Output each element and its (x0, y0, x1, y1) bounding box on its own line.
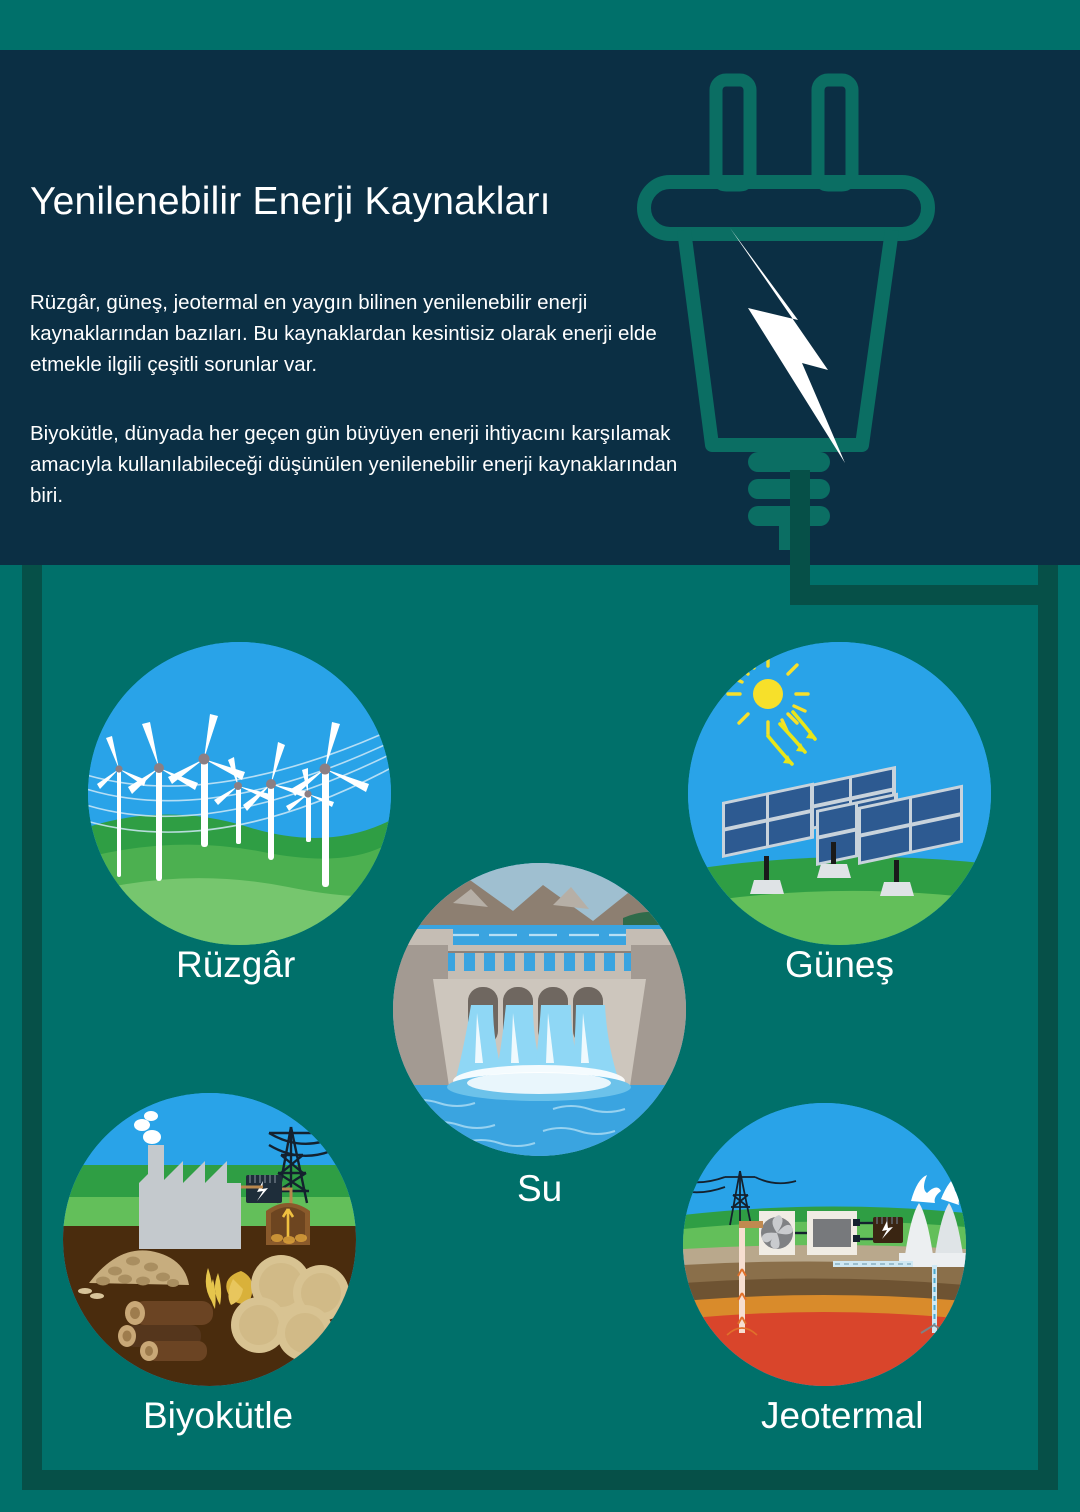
source-label-solar: Güneş (785, 944, 894, 986)
source-label-hydro: Su (517, 1168, 562, 1210)
source-label-geothermal: Jeotermal (761, 1395, 923, 1437)
source-image-hydro (393, 863, 686, 1156)
page-title: Yenilenebilir Enerji Kaynakları (30, 180, 650, 224)
infographic-poster: Yenilenebilir Enerji Kaynakları Rüzgâr, … (0, 0, 1080, 1512)
source-image-biomass (63, 1093, 356, 1386)
source-image-solar (688, 642, 991, 945)
lightning-bolt-icon (730, 228, 845, 463)
source-label-biomass: Biyokütle (143, 1395, 293, 1437)
source-image-wind (88, 642, 391, 945)
source-label-wind: Rüzgâr (176, 944, 295, 986)
intro-paragraph-2: Biyokütle, dünyada her geçen gün büyüyen… (30, 418, 680, 511)
intro-paragraph-1: Rüzgâr, güneş, jeotermal en yaygın bilin… (30, 287, 680, 380)
source-image-geothermal (683, 1103, 966, 1386)
